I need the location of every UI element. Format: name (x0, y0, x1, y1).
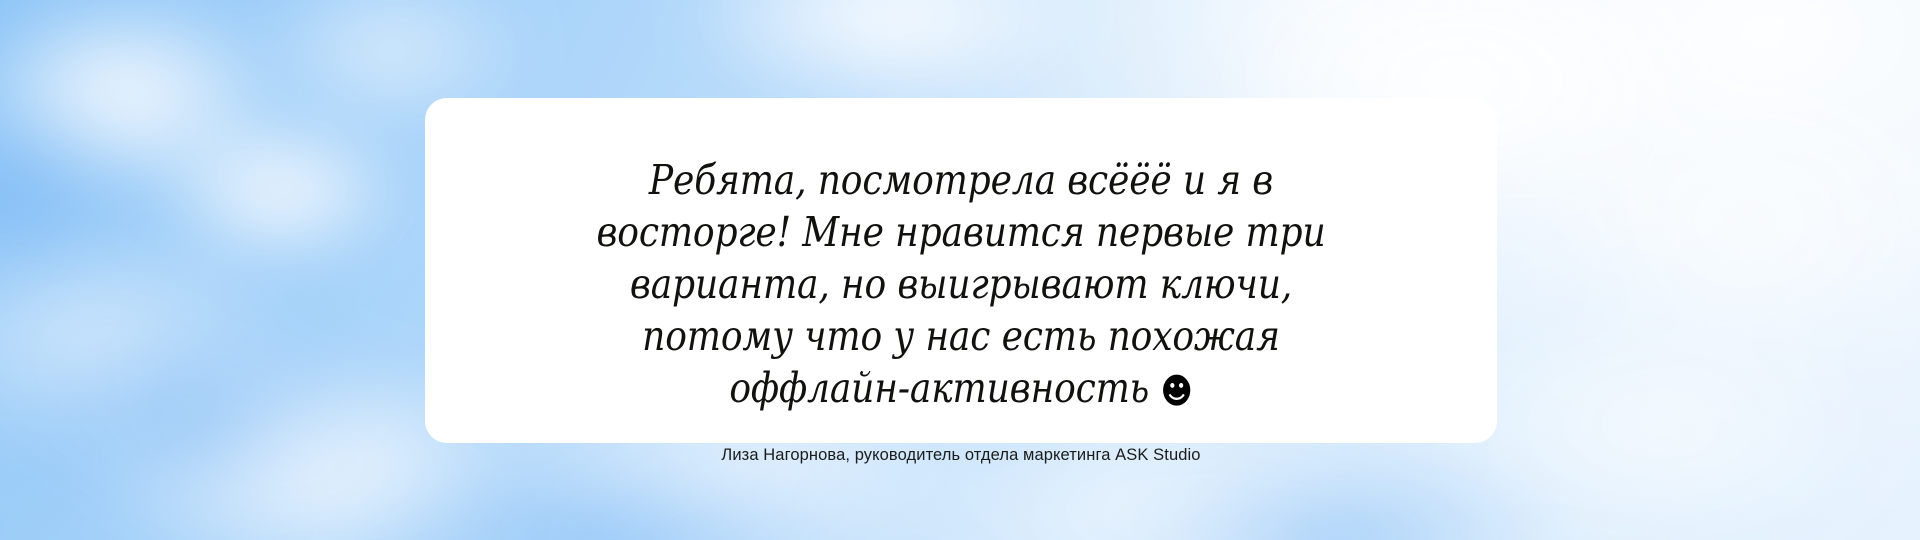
smiley-face-icon: ☻ (1160, 374, 1192, 409)
quote-attribution: Лиза Нагорнова, руководитель отдела марк… (721, 444, 1200, 467)
quote-text: Ребята, посмотрела всёёё и я в восторге!… (552, 154, 1370, 414)
cloud-puff (150, 110, 410, 270)
cloud-puff (680, 0, 1100, 110)
testimonial-card: Ребята, посмотрела всёёё и я в восторге!… (425, 98, 1497, 443)
